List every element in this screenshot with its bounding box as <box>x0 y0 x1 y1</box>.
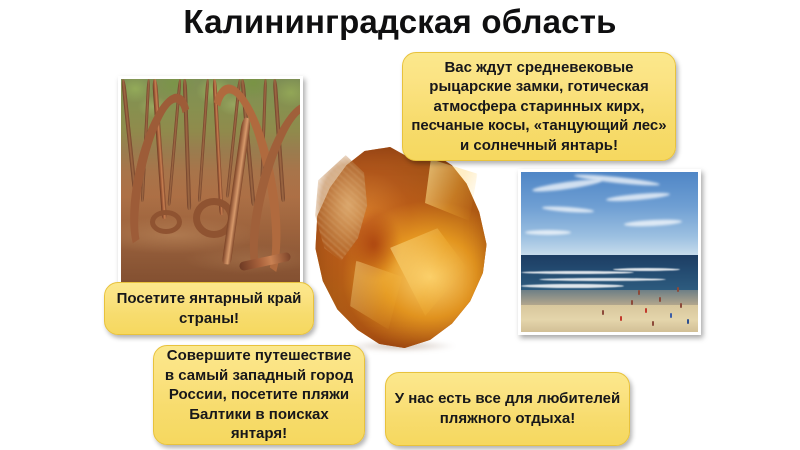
beach-image-canvas <box>521 172 698 332</box>
amber-stone-image[interactable] <box>310 147 492 350</box>
cloud <box>525 230 571 235</box>
beachgoer <box>631 300 633 305</box>
beachgoer <box>638 290 640 295</box>
beachgoer <box>645 308 647 313</box>
dancing-forest-photo[interactable] <box>118 76 303 294</box>
looped-tree-trunk <box>150 210 182 234</box>
callout-intro-text: Вас ждут средневековые рыцарские замки, … <box>411 58 667 156</box>
callout-amber[interactable]: Посетите янтарный край страны! <box>104 282 314 335</box>
beachgoer <box>677 287 679 292</box>
callout-amber-text: Посетите янтарный край страны! <box>113 289 305 328</box>
forest-image-canvas <box>121 79 300 291</box>
beachgoer <box>659 297 661 302</box>
beachgoer <box>652 321 654 326</box>
dry-sand <box>521 305 698 332</box>
surf-line <box>613 268 680 271</box>
callout-beach-text: У нас есть все для любителей пляжного от… <box>394 389 621 429</box>
callout-intro[interactable]: Вас ждут средневековые рыцарские замки, … <box>402 52 676 161</box>
slide-canvas: Калининградская область <box>0 0 800 450</box>
beachgoer <box>620 316 622 321</box>
baltic-beach-photo[interactable] <box>518 169 701 335</box>
surf-line <box>539 278 666 281</box>
callout-beach[interactable]: У нас есть все для любителей пляжного от… <box>385 372 630 446</box>
beachgoer <box>670 313 672 318</box>
page-title: Калининградская область <box>0 2 800 42</box>
callout-travel[interactable]: Совершите путешествие в самый западный г… <box>153 345 365 445</box>
callout-travel-text: Совершите путешествие в самый западный г… <box>162 346 356 444</box>
surf-line <box>521 284 624 288</box>
